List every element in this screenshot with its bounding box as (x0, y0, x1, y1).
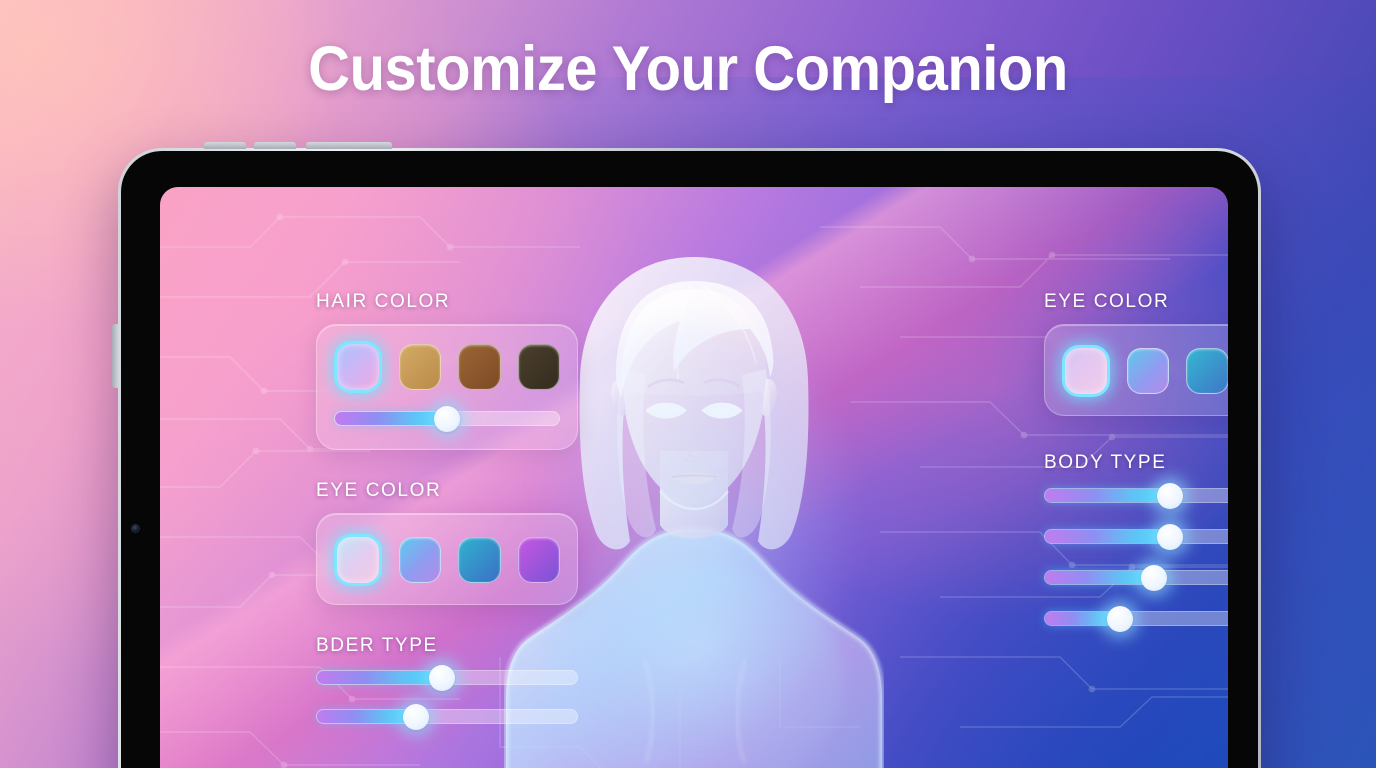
body-type-label-right: BODY TYPE (1044, 452, 1228, 474)
front-camera-icon (132, 525, 139, 532)
eye-swatch-row-right (1062, 345, 1228, 397)
eye-swatch-holo[interactable] (1062, 345, 1110, 397)
page-title: Customize Your Companion (55, 36, 1321, 102)
eye-swatch-teal-blue[interactable] (458, 537, 500, 583)
hair-shade-slider[interactable] (334, 411, 560, 426)
eye-color-label-left: EYE COLOR (316, 480, 578, 502)
hair-swatch-blonde[interactable] (399, 344, 441, 390)
body-type-sliders-right (1044, 488, 1228, 626)
eye-swatch-magenta-purple[interactable] (518, 537, 560, 583)
hair-swatch-brown[interactable] (458, 344, 500, 390)
volume-down-button[interactable] (254, 142, 296, 149)
left-controls-column: HAIR COLOR EYE COLOR (316, 291, 578, 748)
eye-swatch-teal-blue[interactable] (1186, 348, 1228, 394)
body-type-label-left: BDER TYPE (316, 635, 578, 657)
eye-color-panel-left (316, 513, 578, 605)
eye-swatch-holo[interactable] (334, 534, 382, 586)
body-slider-right-4[interactable] (1044, 611, 1228, 626)
body-slider-right-2[interactable] (1044, 529, 1228, 544)
power-button[interactable] (306, 142, 392, 149)
body-type-sliders-left (316, 670, 578, 724)
body-slider-left-2[interactable] (316, 709, 578, 724)
tablet-device: HAIR COLOR EYE COLOR (118, 148, 1261, 768)
eye-swatch-cyan-violet[interactable] (1127, 348, 1169, 394)
avatar-glow (529, 316, 859, 746)
hair-swatch-row (334, 341, 560, 393)
volume-up-button[interactable] (204, 142, 246, 149)
hair-color-panel (316, 324, 578, 450)
hair-swatch-holo[interactable] (334, 341, 382, 393)
tablet-screen: HAIR COLOR EYE COLOR (160, 187, 1228, 768)
hair-color-label: HAIR COLOR (316, 291, 578, 313)
tablet-bezel: HAIR COLOR EYE COLOR (121, 151, 1258, 768)
hair-swatch-dark-brown[interactable] (518, 344, 560, 390)
eye-color-label-right: EYE COLOR (1044, 291, 1228, 313)
page-root: Customize Your Companion (0, 0, 1376, 768)
eye-swatch-row-left (334, 534, 560, 586)
body-slider-right-3[interactable] (1044, 570, 1228, 585)
eye-swatch-cyan-violet[interactable] (399, 537, 441, 583)
side-button[interactable] (112, 324, 119, 388)
right-controls-column: EYE COLOR BODY TYPE (1044, 291, 1228, 652)
eye-color-panel-right (1044, 324, 1228, 416)
body-slider-left-1[interactable] (316, 670, 578, 685)
body-slider-right-1[interactable] (1044, 488, 1228, 503)
